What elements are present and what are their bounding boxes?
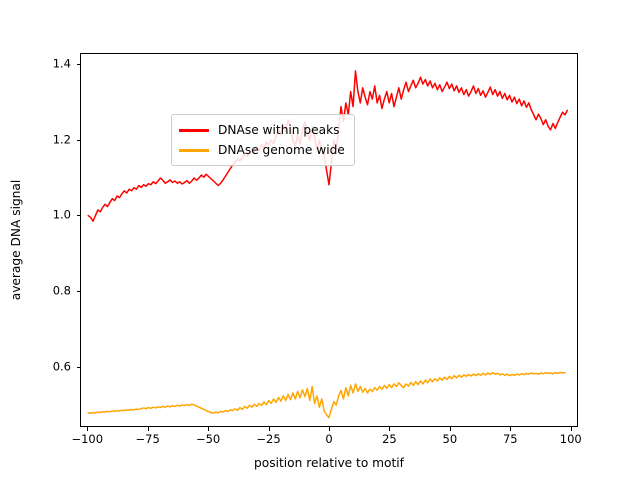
x-tick-mark (510, 427, 511, 431)
x-tick-mark (450, 427, 451, 431)
chart-svg (81, 54, 577, 426)
legend-item-dnase-within-peaks: DNAse within peaks (179, 120, 345, 140)
x-tick-label: 0 (325, 434, 332, 446)
series-line-dnase-genome-wide (88, 372, 565, 417)
legend-swatch-orange (179, 149, 209, 152)
x-axis-label: position relative to motif (254, 456, 404, 470)
y-axis-label: average DNA signal (9, 180, 23, 301)
x-tick-mark (329, 427, 330, 431)
chart-legend: DNAse within peaks DNAse genome wide (171, 114, 355, 166)
y-tick-label: 0.8 (53, 285, 71, 297)
y-tick-mark (77, 64, 81, 65)
legend-swatch-red (179, 129, 209, 132)
x-tick-label: 75 (503, 434, 518, 446)
x-tick-mark (87, 427, 88, 431)
x-tick-mark (148, 427, 149, 431)
x-tick-label: −50 (196, 434, 220, 446)
plot-area: DNAse within peaks DNAse genome wide (80, 53, 578, 427)
y-tick-mark (77, 215, 81, 216)
x-tick-label: 50 (443, 434, 458, 446)
y-tick-mark (77, 140, 81, 141)
x-tick-label: 100 (560, 434, 582, 446)
x-tick-label: −100 (71, 434, 103, 446)
y-tick-label: 0.6 (53, 361, 71, 373)
legend-item-dnase-genome-wide: DNAse genome wide (179, 140, 345, 160)
x-tick-mark (208, 427, 209, 431)
chart-figure: DNAse within peaks DNAse genome wide −10… (0, 0, 640, 480)
y-tick-label: 1.4 (53, 59, 71, 71)
legend-label-dnase-within-peaks: DNAse within peaks (218, 124, 340, 136)
y-tick-mark (77, 291, 81, 292)
x-tick-label: 25 (382, 434, 397, 446)
y-tick-label: 1.0 (53, 210, 71, 222)
x-tick-label: −75 (136, 434, 160, 446)
x-tick-mark (389, 427, 390, 431)
x-tick-mark (269, 427, 270, 431)
x-tick-mark (571, 427, 572, 431)
y-tick-mark (77, 367, 81, 368)
x-tick-label: −25 (256, 434, 280, 446)
legend-label-dnase-genome-wide: DNAse genome wide (218, 144, 345, 156)
y-tick-label: 1.2 (53, 134, 71, 146)
